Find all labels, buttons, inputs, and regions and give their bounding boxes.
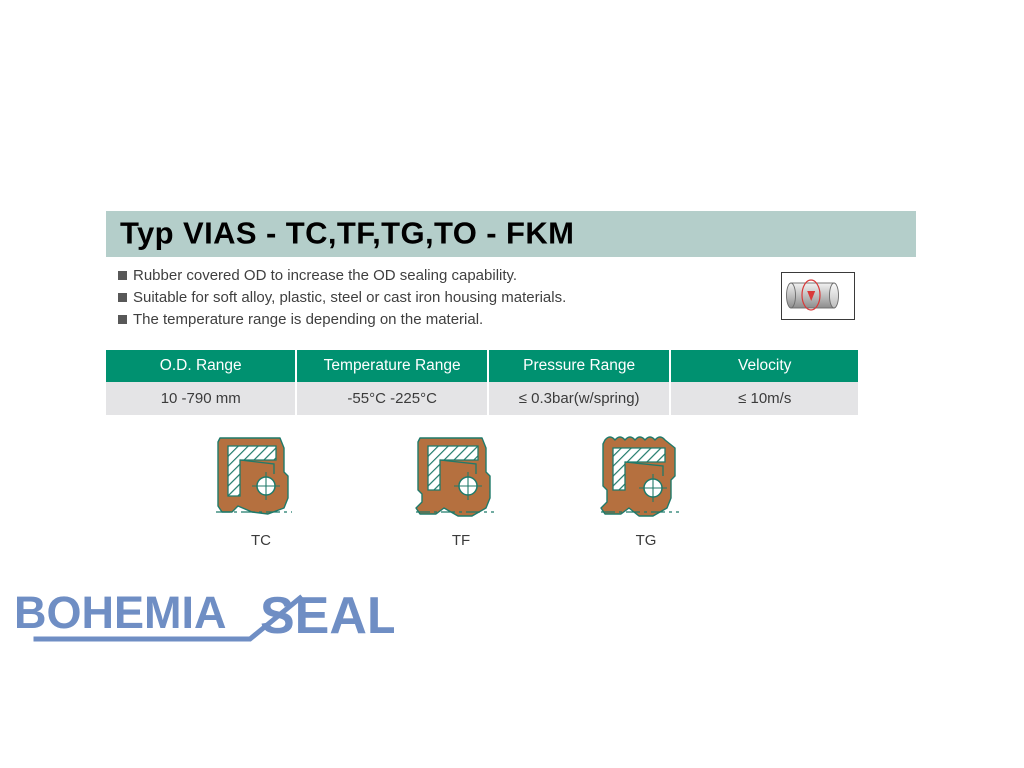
feature-list: Rubber covered OD to increase the OD sea… xyxy=(118,266,758,332)
seal-cross-section-tf-icon xyxy=(406,428,516,528)
seal-variant-tg: TG xyxy=(581,428,711,549)
seal-cross-section-tg-icon xyxy=(591,428,701,528)
table-row: 10 -790 mm -55°C -225°C ≤ 0.3bar(w/sprin… xyxy=(106,382,858,415)
logo-text-bohemia: BOHEMIA xyxy=(14,587,227,638)
column-header-velocity: Velocity xyxy=(671,350,858,382)
cell-od-range: 10 -790 mm xyxy=(106,382,297,415)
seal-label-tg: TG xyxy=(581,532,711,549)
list-item: Rubber covered OD to increase the OD sea… xyxy=(118,266,758,287)
seal-cross-section-tc-icon xyxy=(206,428,316,528)
list-item-label: Rubber covered OD to increase the OD sea… xyxy=(133,266,517,285)
seal-label-tf: TF xyxy=(396,532,526,549)
seal-diagram-group: TC TF xyxy=(106,428,858,563)
seal-variant-tf: TF xyxy=(396,428,526,549)
list-item: The temperature range is depending on th… xyxy=(118,310,758,331)
page-title: Typ VIAS - TC,TF,TG,TO - FKM xyxy=(120,215,574,251)
list-item-label: The temperature range is depending on th… xyxy=(133,310,483,329)
seal-label-tc: TC xyxy=(196,532,326,549)
column-header-temperature-range: Temperature Range xyxy=(297,350,488,382)
square-bullet-icon xyxy=(118,293,127,302)
table-header-row: O.D. Range Temperature Range Pressure Ra… xyxy=(106,350,858,382)
rotating-shaft-icon xyxy=(781,272,855,320)
list-item-label: Suitable for soft alloy, plastic, steel … xyxy=(133,288,566,307)
cell-pressure-range: ≤ 0.3bar(w/spring) xyxy=(489,382,672,415)
title-banner: Typ VIAS - TC,TF,TG,TO - FKM xyxy=(106,211,916,257)
square-bullet-icon xyxy=(118,315,127,324)
cell-velocity: ≤ 10m/s xyxy=(671,382,858,415)
seal-variant-tc: TC xyxy=(196,428,326,549)
column-header-pressure-range: Pressure Range xyxy=(489,350,672,382)
specification-table: O.D. Range Temperature Range Pressure Ra… xyxy=(106,350,858,415)
cell-temperature-range: -55°C -225°C xyxy=(297,382,488,415)
square-bullet-icon xyxy=(118,271,127,280)
company-logo: BOHEMIA SEAL xyxy=(14,586,394,646)
list-item: Suitable for soft alloy, plastic, steel … xyxy=(118,288,758,309)
column-header-od-range: O.D. Range xyxy=(106,350,297,382)
